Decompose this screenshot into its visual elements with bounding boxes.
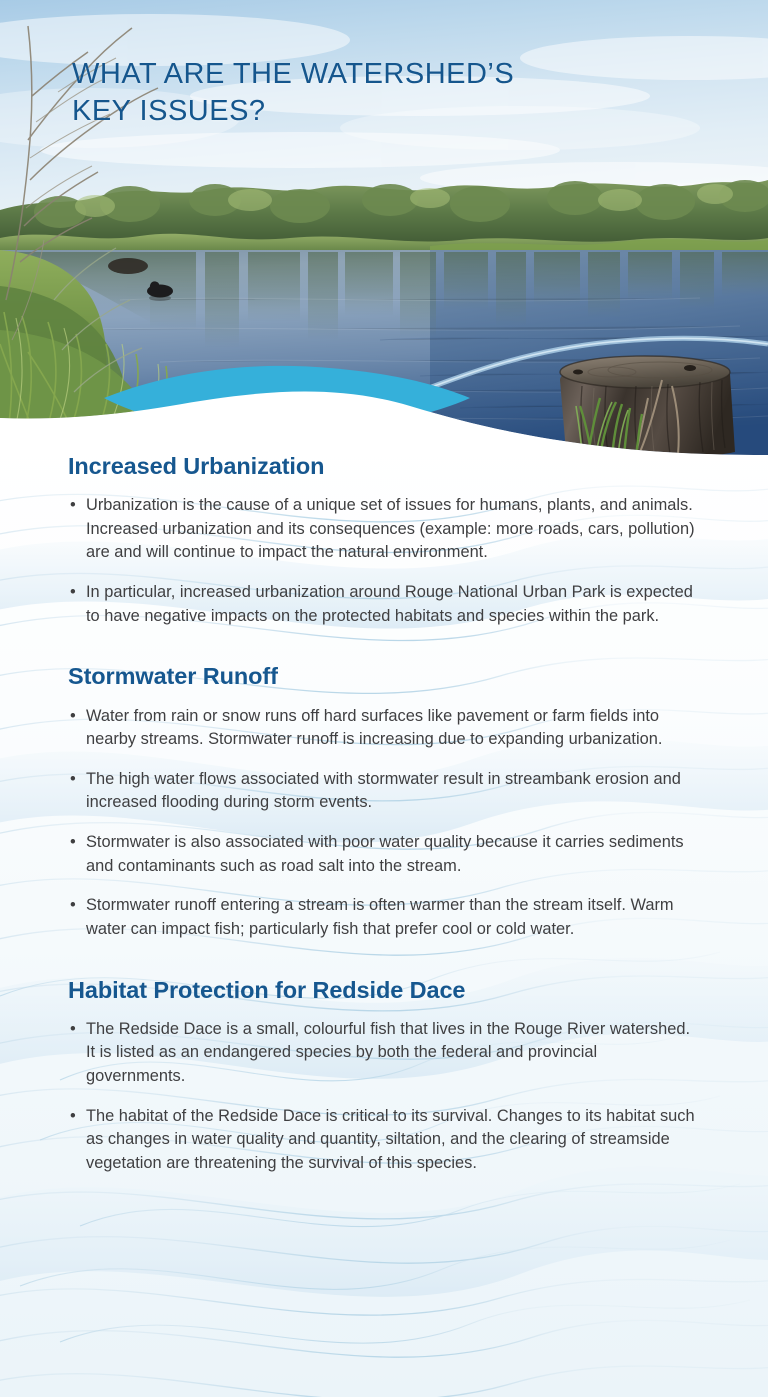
list-item: • The high water flows associated with s… [68, 768, 700, 815]
list-item-text: The Redside Dace is a small, colourful f… [86, 1020, 690, 1085]
bullet-marker-icon: • [70, 1105, 76, 1129]
list-item: • Stormwater runoff entering a stream is… [68, 894, 700, 941]
list-item: • In particular, increased urbanization … [68, 581, 700, 628]
list-item-text: Stormwater runoff entering a stream is o… [86, 896, 674, 938]
section-spacer [68, 946, 700, 976]
section-increased-urbanization: Increased Urbanization • Urbanization is… [68, 452, 700, 628]
bullet-marker-icon: • [70, 581, 76, 605]
list-item-text: In particular, increased urbanization ar… [86, 583, 693, 625]
bullet-marker-icon: • [70, 894, 76, 918]
section-habitat-protection-redside-dace: Habitat Protection for Redside Dace • Th… [68, 976, 700, 1176]
list-item: • Urbanization is the cause of a unique … [68, 494, 700, 565]
list-item-text: Water from rain or snow runs off hard su… [86, 707, 662, 749]
page-title-line-1: WHAT ARE THE WATERSHED’S [72, 56, 514, 93]
bullet-list: • Urbanization is the cause of a unique … [68, 494, 700, 628]
bullet-marker-icon: • [70, 705, 76, 729]
list-item-text: The high water flows associated with sto… [86, 770, 681, 812]
list-item: • Water from rain or snow runs off hard … [68, 705, 700, 752]
bullet-marker-icon: • [70, 831, 76, 855]
page-title: WHAT ARE THE WATERSHED’S KEY ISSUES? [72, 56, 514, 130]
page: WHAT ARE THE WATERSHED’S KEY ISSUES? Inc… [0, 0, 768, 1397]
list-item: • Stormwater is also associated with poo… [68, 831, 700, 878]
bullet-list: • Water from rain or snow runs off hard … [68, 705, 700, 942]
section-heading: Increased Urbanization [68, 452, 700, 480]
content-body: Increased Urbanization • Urbanization is… [0, 452, 768, 1179]
list-item: • The Redside Dace is a small, colourful… [68, 1018, 700, 1089]
bullet-marker-icon: • [70, 1018, 76, 1042]
list-item-text: The habitat of the Redside Dace is criti… [86, 1107, 695, 1172]
section-spacer [68, 632, 700, 662]
bullet-list: • The Redside Dace is a small, colourful… [68, 1018, 700, 1176]
bullet-marker-icon: • [70, 768, 76, 792]
list-item-text: Urbanization is the cause of a unique se… [86, 496, 695, 561]
section-heading: Stormwater Runoff [68, 662, 700, 690]
list-item: • The habitat of the Redside Dace is cri… [68, 1105, 700, 1176]
page-title-line-2: KEY ISSUES? [72, 93, 514, 130]
bullet-marker-icon: • [70, 494, 76, 518]
section-heading: Habitat Protection for Redside Dace [68, 976, 700, 1004]
list-item-text: Stormwater is also associated with poor … [86, 833, 684, 875]
section-stormwater-runoff: Stormwater Runoff • Water from rain or s… [68, 662, 700, 941]
